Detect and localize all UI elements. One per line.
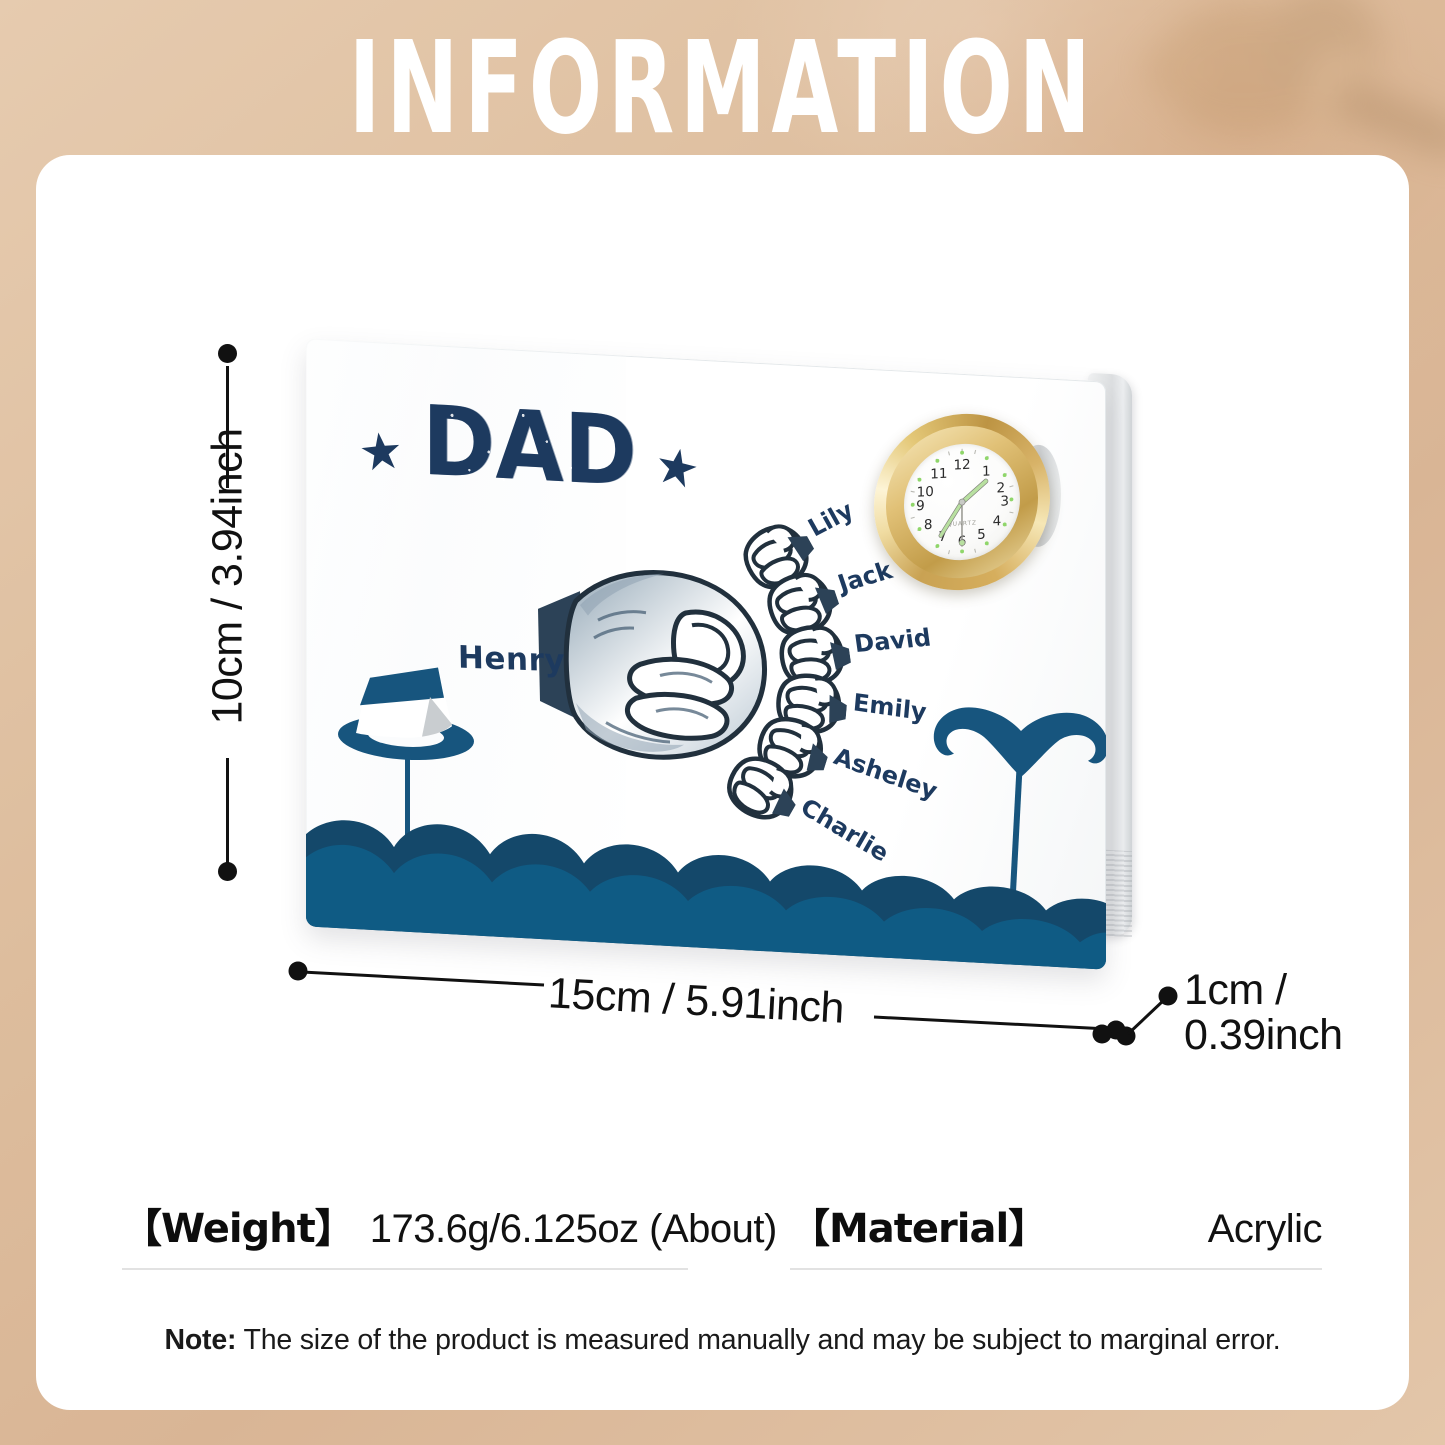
- spec-row: 【Material】 Acrylic: [790, 1196, 1322, 1270]
- spec-row: 【Weight】 173.6g/6.125oz (About): [122, 1196, 688, 1270]
- product-plaque: DAD: [296, 352, 1156, 952]
- spec-material: 【Material】 Acrylic: [790, 1196, 1322, 1270]
- clock-face: 12 1 2 3 4 5 6 7 8 9 10 11 QUARTZ: [904, 441, 1020, 563]
- dimension-width: 15cm / 5.91inch: [286, 955, 1166, 1075]
- spec-material-value: Acrylic: [1208, 1207, 1322, 1252]
- note-body: The size of the product is measured manu…: [236, 1324, 1280, 1356]
- infographic-stage: INFORMATION 10cm / 3.94inch DAD: [0, 0, 1445, 1445]
- child-name-label: Emily: [852, 688, 928, 726]
- page-title: INFORMATION: [145, 26, 1301, 153]
- analog-clock: 12 1 2 3 4 5 6 7 8 9 10 11 QUARTZ: [874, 409, 1050, 595]
- child-name-label: David: [852, 624, 932, 659]
- star-icon: [655, 445, 699, 491]
- dimension-endpoint-dot: [218, 862, 237, 881]
- svg-text:5: 5: [977, 526, 986, 542]
- thickness-label-line-2: 0.39inch: [1184, 1013, 1343, 1058]
- spec-weight: 【Weight】 173.6g/6.125oz (About): [122, 1196, 688, 1270]
- dad-headline-group: DAD: [336, 392, 716, 533]
- svg-text:3: 3: [1000, 493, 1009, 509]
- svg-text:1: 1: [982, 463, 991, 479]
- svg-text:4: 4: [993, 513, 1002, 529]
- dimension-thickness: 1cm / 0.39inch: [1092, 962, 1422, 1072]
- spec-weight-value: 173.6g/6.125oz (About): [370, 1207, 777, 1252]
- svg-text:8: 8: [924, 517, 933, 533]
- note-label: Note:: [164, 1324, 236, 1356]
- clock-face-svg: 12 1 2 3 4 5 6 7 8 9 10 11 QUARTZ: [904, 441, 1020, 563]
- child-name-label: Lily: [803, 496, 858, 542]
- svg-text:11: 11: [930, 466, 947, 483]
- spec-weight-key: 【Weight】: [122, 1196, 354, 1254]
- svg-text:10: 10: [917, 484, 934, 501]
- star-icon: [360, 431, 403, 472]
- svg-text:12: 12: [953, 457, 970, 474]
- dimension-thickness-label: 1cm / 0.39inch: [1184, 968, 1343, 1058]
- dimension-height-label: 10cm / 3.94inch: [204, 327, 253, 827]
- spec-material-key: 【Material】: [790, 1196, 1047, 1254]
- note-text: Note: The size of the product is measure…: [0, 1324, 1445, 1357]
- thickness-label-line-1: 1cm /: [1184, 968, 1343, 1013]
- dimension-height: 10cm / 3.94inch: [196, 330, 268, 910]
- dimension-line: [226, 758, 229, 868]
- dad-headline: DAD: [422, 393, 637, 501]
